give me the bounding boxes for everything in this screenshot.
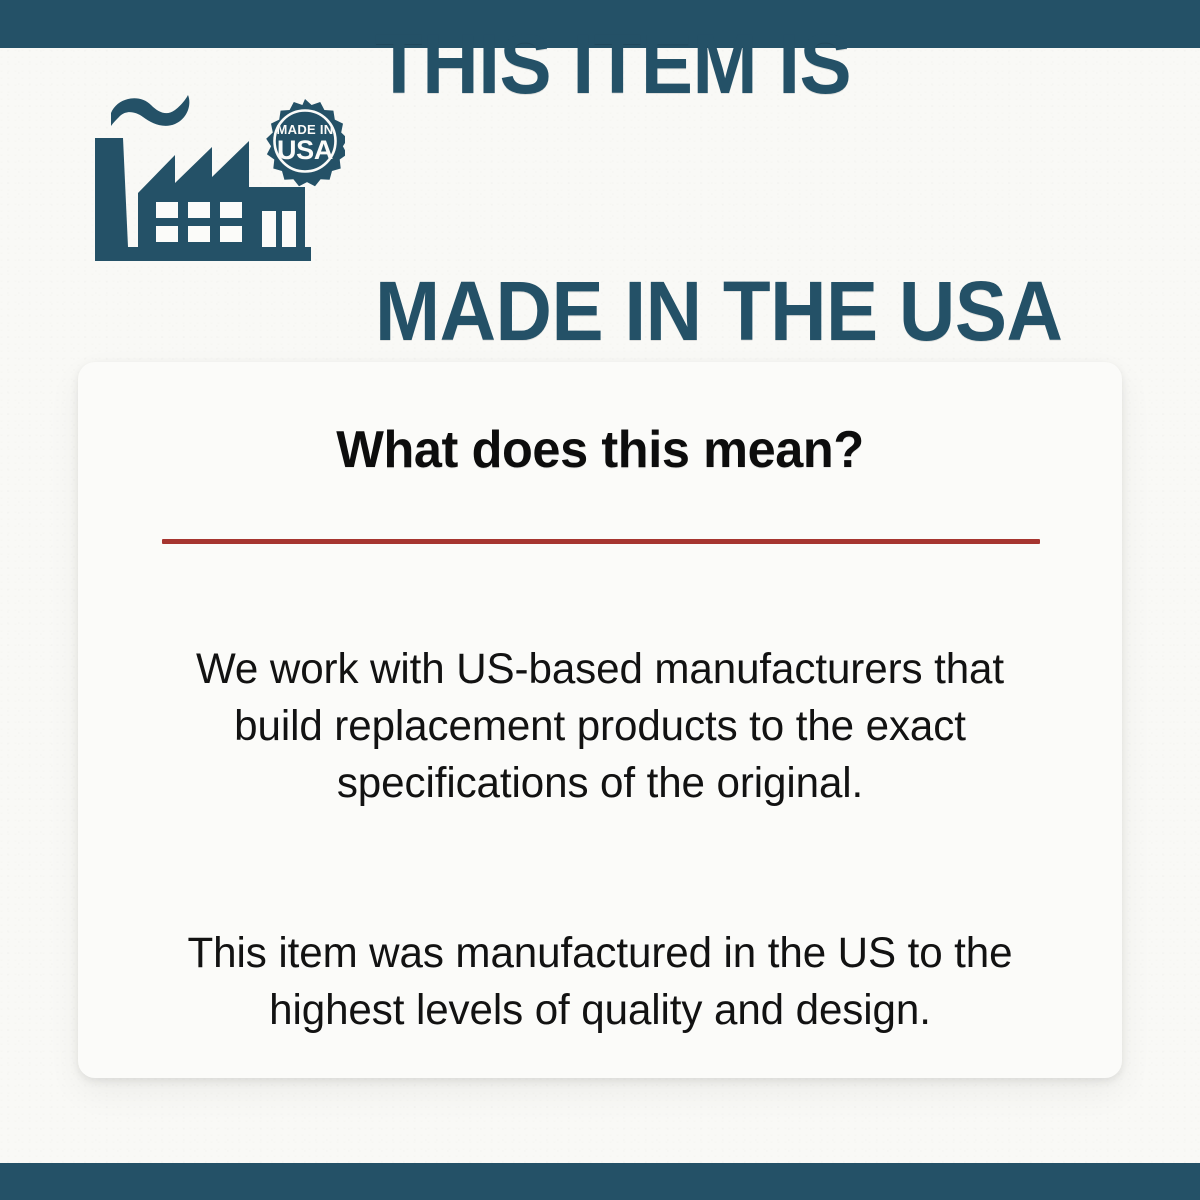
svg-text:USA: USA: [277, 135, 333, 165]
factory-icon: MADE IN USA: [95, 95, 345, 281]
bottom-accent-bar: [0, 1163, 1200, 1200]
card-heading: What does this mean?: [94, 420, 1107, 480]
card-divider: [162, 539, 1040, 544]
page-title-line-1: THIS ITEM IS: [375, 23, 1062, 105]
card-paragraph-1: We work with US-based manufacturers that…: [149, 641, 1051, 811]
page-title-line-2: MADE IN THE USA: [375, 270, 1062, 352]
card-paragraph-2: This item was manufactured in the US to …: [149, 925, 1051, 1039]
info-card: What does this mean? We work with US-bas…: [78, 362, 1122, 1078]
header-banner: MADE IN USA THIS ITEM IS MADE IN THE USA: [0, 88, 1200, 288]
page-root: MADE IN USA THIS ITEM IS MADE IN THE USA…: [0, 0, 1200, 1200]
